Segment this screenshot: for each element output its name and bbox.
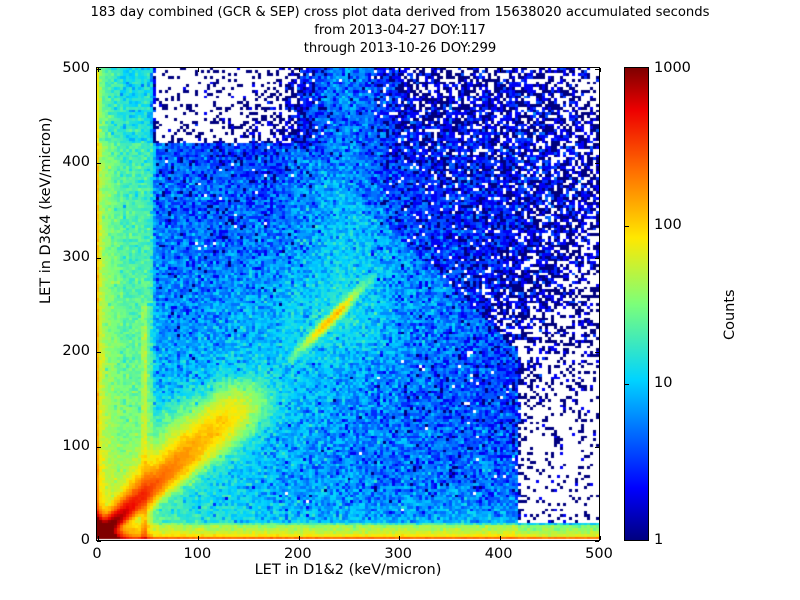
title-line-3: through 2013-10-26 DOY:299 — [0, 40, 800, 58]
colorbar-tick-label-10: 10 — [654, 375, 672, 391]
colorbar-tick-label-1: 1 — [654, 532, 663, 548]
x-tick-400 — [500, 536, 501, 540]
y-tick-300 — [97, 258, 101, 259]
x-axis-label: LET in D1&2 (keV/micron) — [96, 562, 600, 578]
x-tick-label-500: 500 — [585, 546, 613, 562]
title-line-2: from 2013-04-27 DOY:117 — [0, 22, 800, 40]
y-tick-300 — [595, 258, 599, 259]
y-tick-label-500: 500 — [34, 60, 90, 76]
y-tick-500 — [97, 69, 101, 70]
y-tick-200 — [595, 352, 599, 353]
colorbar-tick-label-1000: 1000 — [654, 60, 691, 76]
plot-axes — [96, 67, 600, 541]
x-tick-label-200: 200 — [284, 546, 312, 562]
colorbar-label: Counts — [722, 289, 738, 340]
y-tick-0 — [595, 541, 599, 542]
x-tick-200 — [299, 68, 300, 72]
density-heatmap — [97, 68, 599, 540]
colorbar — [624, 67, 649, 541]
x-tick-400 — [500, 68, 501, 72]
y-tick-200 — [97, 352, 101, 353]
x-tick-label-0: 0 — [92, 546, 101, 562]
x-tick-label-300: 300 — [384, 546, 412, 562]
x-tick-200 — [299, 536, 300, 540]
colorbar-tick-100 — [625, 226, 629, 227]
x-tick-100 — [198, 536, 199, 540]
colorbar-tick-label-100: 100 — [654, 217, 682, 233]
y-tick-100 — [97, 447, 101, 448]
y-tick-label-0: 0 — [34, 532, 90, 548]
x-tick-500 — [600, 536, 601, 540]
x-tick-500 — [600, 68, 601, 72]
title-line-1: 183 day combined (GCR & SEP) cross plot … — [0, 4, 800, 22]
x-tick-300 — [399, 68, 400, 72]
y-tick-400 — [97, 163, 101, 164]
x-tick-0 — [98, 536, 99, 540]
y-tick-0 — [97, 541, 101, 542]
x-tick-label-100: 100 — [184, 546, 212, 562]
y-tick-100 — [595, 447, 599, 448]
colorbar-tick-10 — [625, 384, 629, 385]
y-axis-label: LET in D3&4 (keV/micron) — [38, 117, 54, 304]
y-tick-label-200: 200 — [34, 343, 90, 359]
colorbar-gradient — [625, 68, 648, 540]
figure-canvas: 183 day combined (GCR & SEP) cross plot … — [0, 0, 800, 600]
x-tick-300 — [399, 536, 400, 540]
y-tick-500 — [595, 69, 599, 70]
x-tick-100 — [198, 68, 199, 72]
plot-title: 183 day combined (GCR & SEP) cross plot … — [0, 4, 800, 58]
y-tick-label-100: 100 — [34, 438, 90, 454]
y-tick-400 — [595, 163, 599, 164]
x-tick-label-400: 400 — [485, 546, 513, 562]
